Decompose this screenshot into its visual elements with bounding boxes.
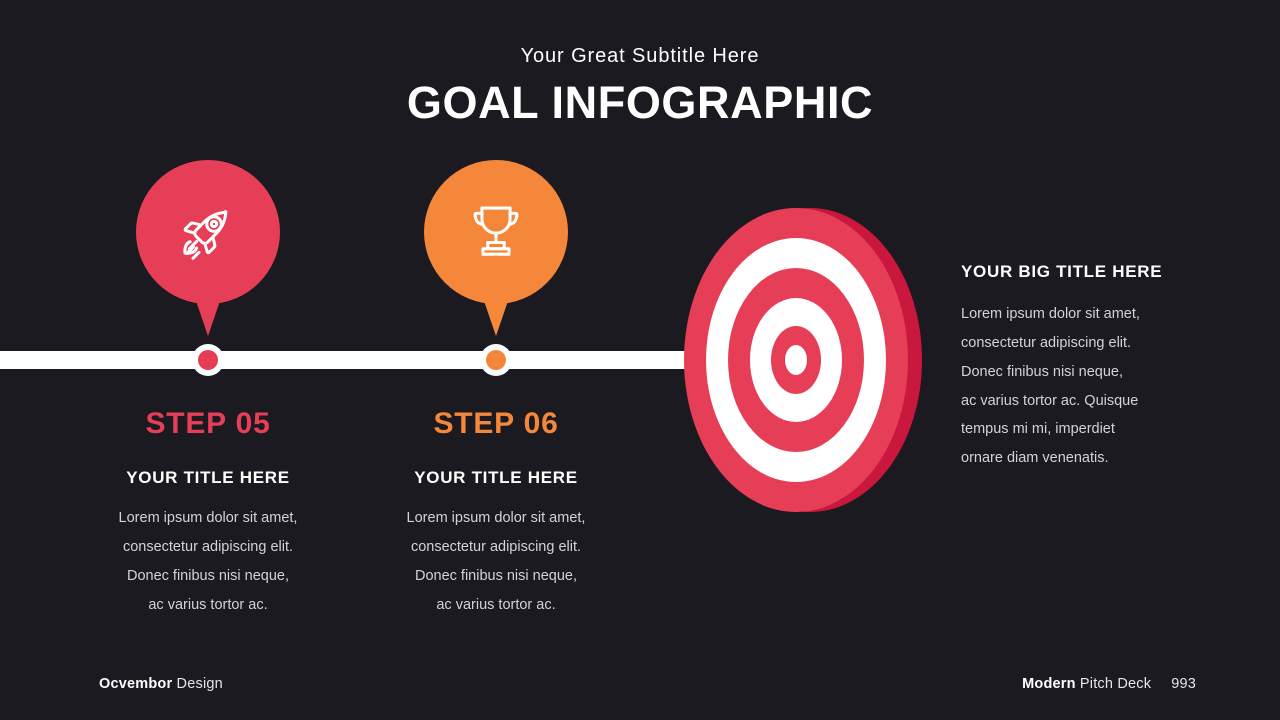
step-body: Lorem ipsum dolor sit amet, consectetur … <box>346 504 646 620</box>
step-label: STEP 05 <box>58 405 358 443</box>
goal-body-line: Lorem ipsum dolor sit amet, <box>961 300 1211 329</box>
step-body-line: Donec finibus nisi neque, <box>346 562 646 591</box>
slide-subtitle: Your Great Subtitle Here <box>0 44 1280 68</box>
goal-body-line: consectetur adipiscing elit. <box>961 329 1211 358</box>
footer-brand-bold: Ocvembor <box>99 676 172 692</box>
footer-brand: Ocvembor Design <box>99 676 223 692</box>
step-body-line: consectetur adipiscing elit. <box>58 533 358 562</box>
pin-bubble <box>136 160 280 304</box>
rocket-icon <box>171 193 245 272</box>
footer-deck-info: Modern Pitch Deck993 <box>1022 676 1196 692</box>
step-title: YOUR TITLE HERE <box>346 468 646 488</box>
timeline-node-dot <box>198 350 218 370</box>
goal-title: YOUR BIG TITLE HERE <box>961 262 1211 282</box>
step-body-line: Lorem ipsum dolor sit amet, <box>346 504 646 533</box>
trophy-icon <box>460 194 532 271</box>
goal-body-line: ornare diam venenatis. <box>961 444 1211 473</box>
timeline-node-step-06[interactable] <box>480 344 512 376</box>
footer-brand-light: Design <box>172 676 223 692</box>
pin-marker-step-06[interactable] <box>424 160 568 304</box>
goal-body-line: tempus mi mi, imperdiet <box>961 415 1211 444</box>
step-block-05: STEP 05 YOUR TITLE HERE Lorem ipsum dolo… <box>58 405 358 620</box>
page-title: GOAL INFOGRAPHIC <box>0 76 1280 129</box>
page-number: 993 <box>1171 676 1196 692</box>
step-label: STEP 06 <box>346 405 646 443</box>
goal-body-line: Donec finibus nisi neque, <box>961 358 1211 387</box>
slide-header: Your Great Subtitle Here GOAL INFOGRAPHI… <box>0 44 1280 129</box>
target-bullseye-icon <box>678 200 928 520</box>
timeline-node-dot <box>486 350 506 370</box>
goal-body-line: ac varius tortor ac. Quisque <box>961 387 1211 416</box>
step-body-line: Donec finibus nisi neque, <box>58 562 358 591</box>
step-body: Lorem ipsum dolor sit amet, consectetur … <box>58 504 358 620</box>
step-block-06: STEP 06 YOUR TITLE HERE Lorem ipsum dolo… <box>346 405 646 620</box>
pin-bubble <box>424 160 568 304</box>
goal-text-block: YOUR BIG TITLE HERE Lorem ipsum dolor si… <box>961 262 1211 473</box>
step-title: YOUR TITLE HERE <box>58 468 358 488</box>
step-body-line: ac varius tortor ac. <box>346 591 646 620</box>
timeline-node-step-05[interactable] <box>192 344 224 376</box>
footer-deck-bold: Modern <box>1022 676 1076 692</box>
pin-marker-step-05[interactable] <box>136 160 280 304</box>
goal-body: Lorem ipsum dolor sit amet, consectetur … <box>961 300 1211 472</box>
footer-deck-light: Pitch Deck <box>1076 676 1152 692</box>
step-body-line: consectetur adipiscing elit. <box>346 533 646 562</box>
step-body-line: ac varius tortor ac. <box>58 591 358 620</box>
step-body-line: Lorem ipsum dolor sit amet, <box>58 504 358 533</box>
